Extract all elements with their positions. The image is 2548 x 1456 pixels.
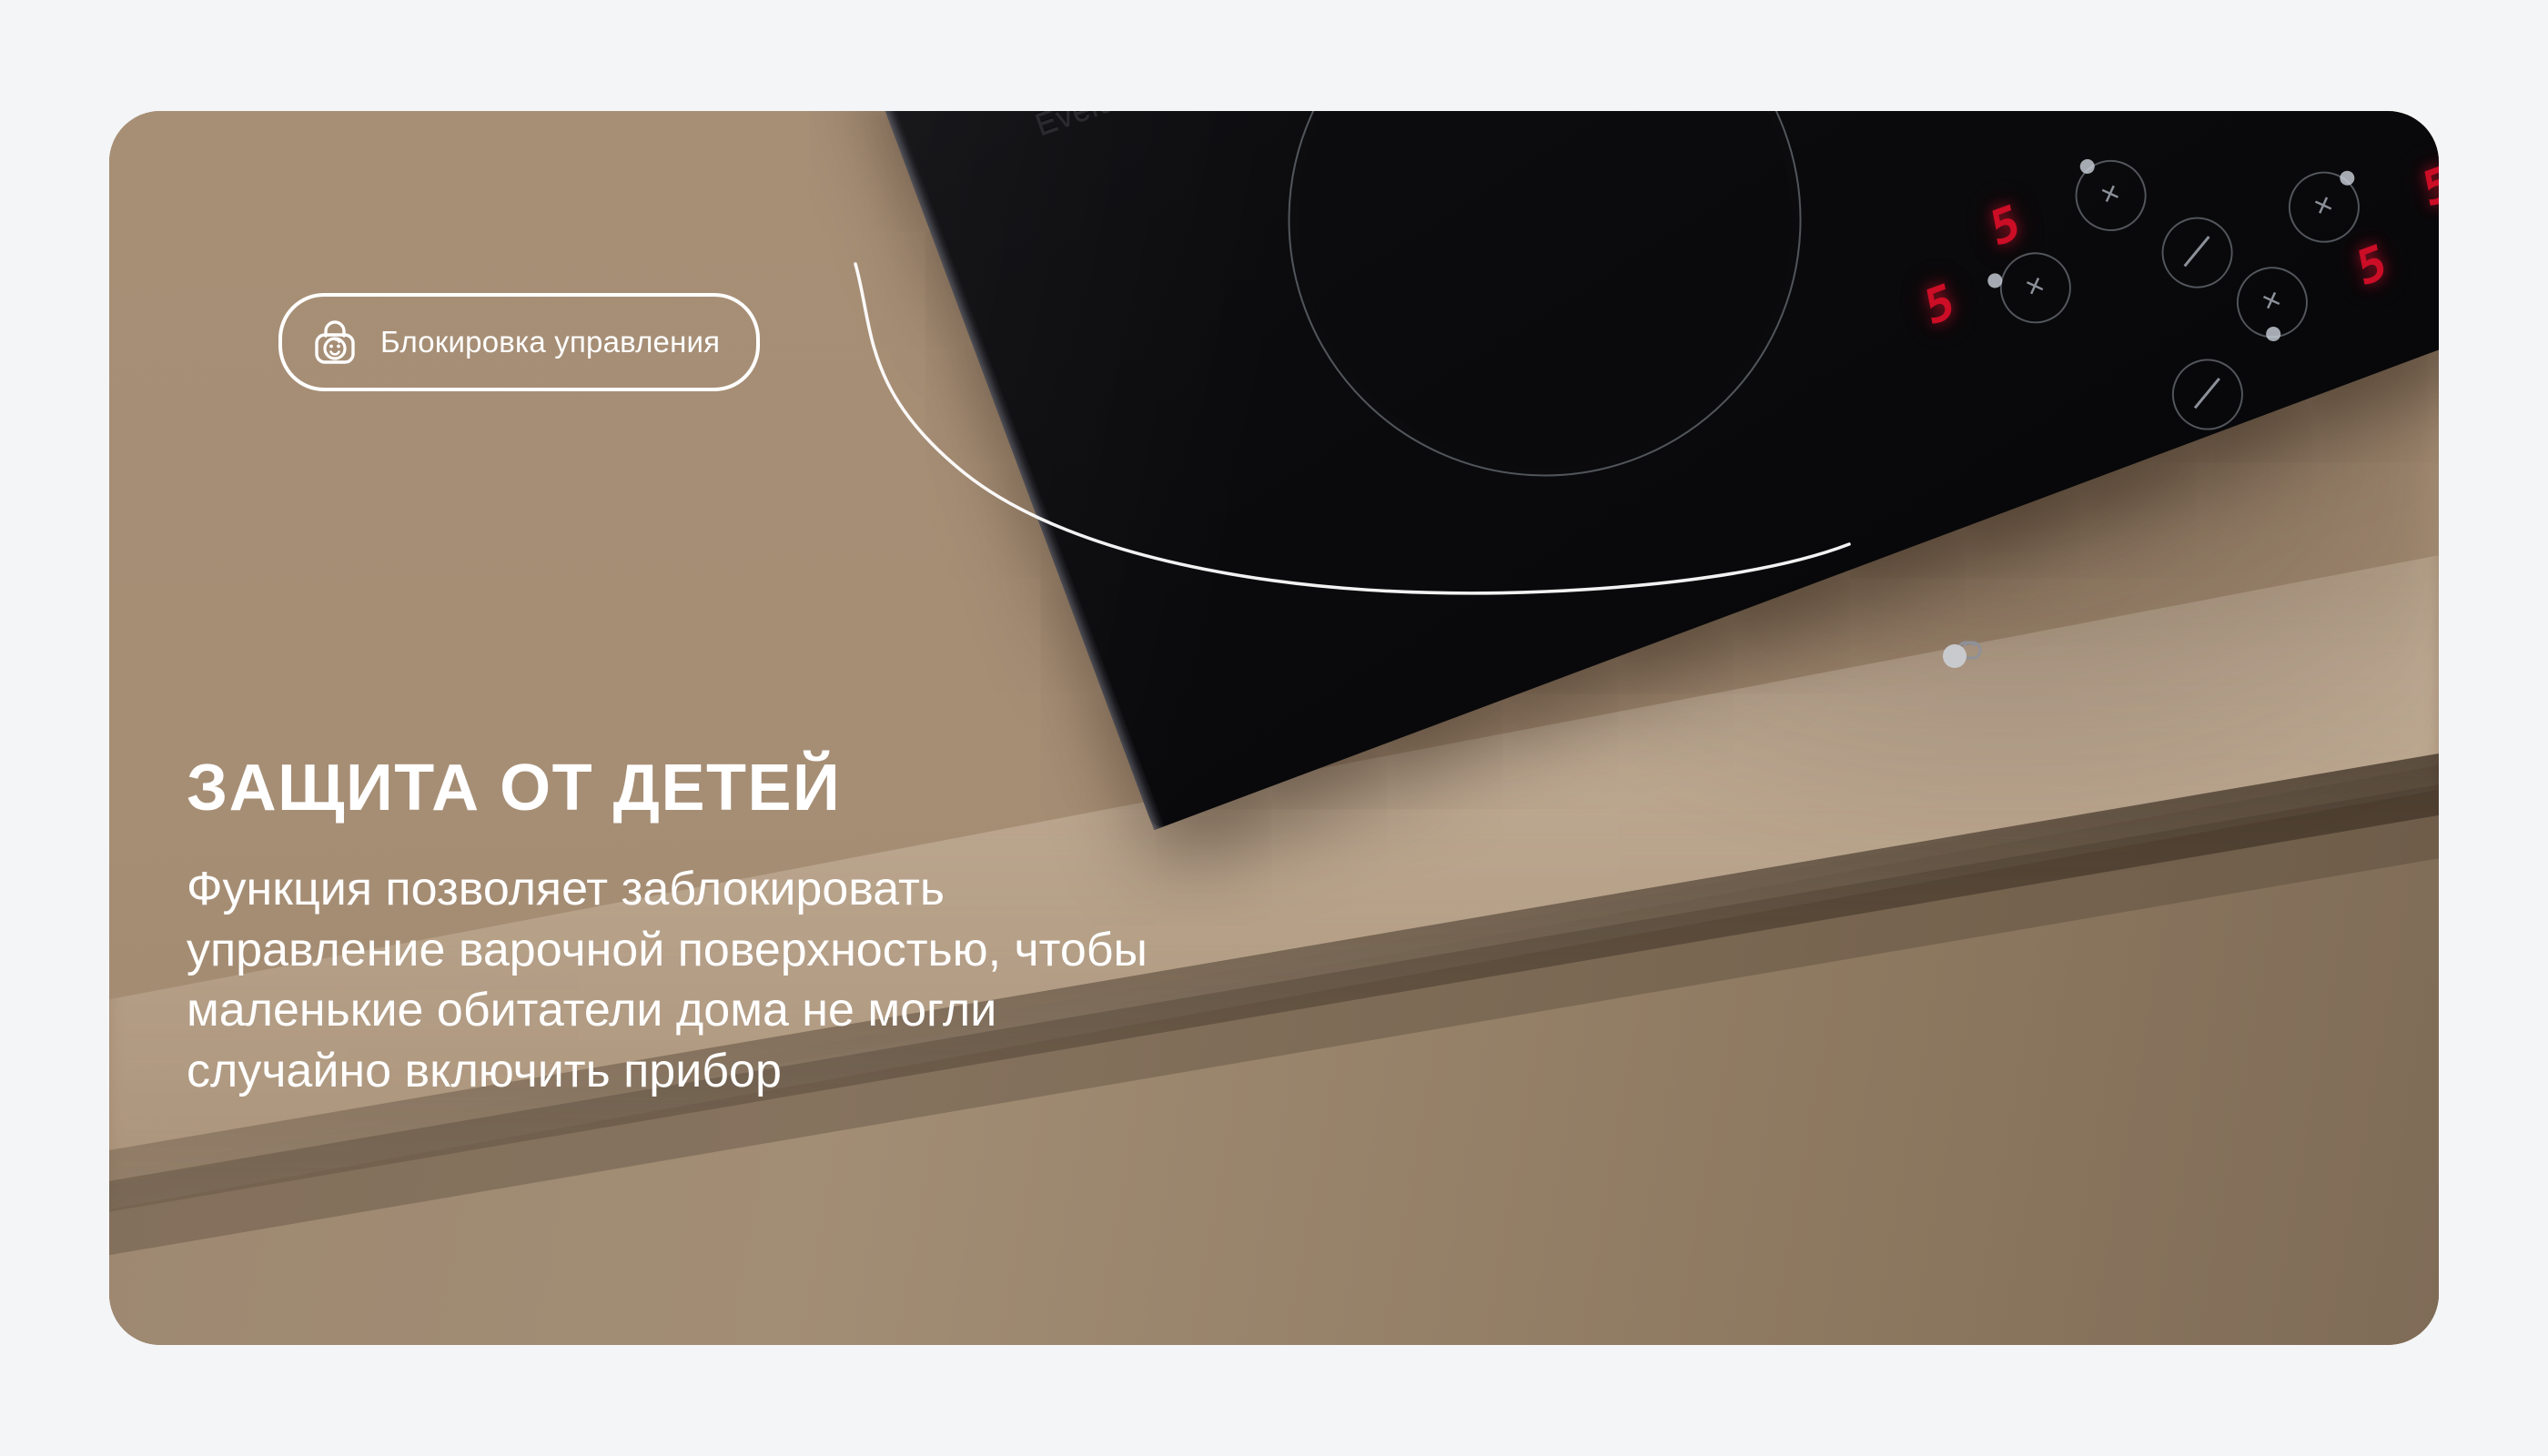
indicator-dot	[2338, 168, 2357, 187]
feature-card: Evelux induction 5 5 5 5 × × × ×	[109, 111, 2439, 1345]
plus-button-4[interactable]: ×	[2279, 161, 2370, 252]
page-title: ЗАЩИТА ОТ ДЕТЕЙ	[187, 755, 1825, 821]
power-display-3: 5	[2353, 234, 2391, 298]
indicator-dot	[2264, 325, 2283, 344]
feature-badge[interactable]: Блокировка управления	[278, 293, 760, 391]
power-display-1: 5	[1921, 273, 1958, 337]
indicator-dot	[2078, 157, 2097, 177]
promo-page: Evelux induction 5 5 5 5 × × × ×	[0, 0, 2548, 1456]
plus-button-3[interactable]: ×	[2227, 257, 2318, 348]
minus-button-1[interactable]	[2151, 207, 2242, 298]
plus-button-2[interactable]: ×	[2065, 150, 2156, 241]
burner-ring-main	[1215, 111, 1876, 550]
brand-logo: Evelux	[1031, 111, 1136, 143]
feature-badge-label: Блокировка управления	[380, 325, 720, 359]
text-block: ЗАЩИТА ОТ ДЕТЕЙ Функция позволяет заблок…	[187, 755, 1825, 1101]
lock-icon	[1942, 637, 1984, 673]
power-display-4: 5	[2419, 155, 2439, 218]
child-lock-icon	[309, 317, 360, 368]
indicator-dot	[1986, 271, 2005, 290]
power-display-2: 5	[1987, 194, 2024, 258]
feature-description: Функция позволяет заблокировать управлен…	[187, 859, 1206, 1101]
